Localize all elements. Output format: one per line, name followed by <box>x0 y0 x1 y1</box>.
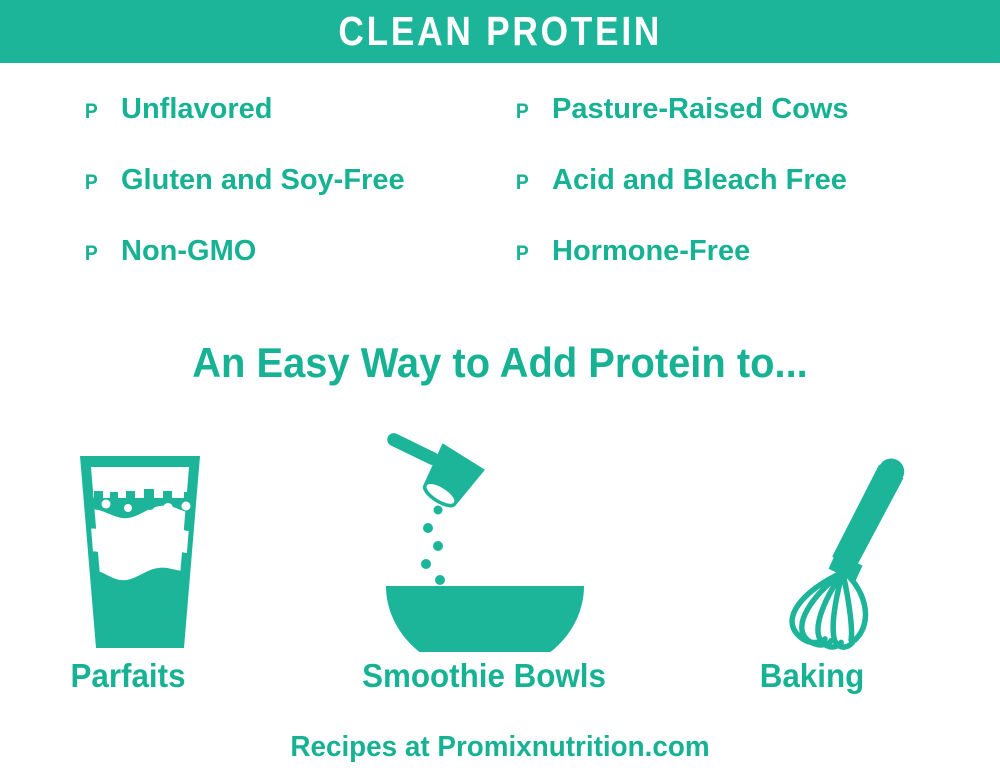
use-case-smoothie-bowls <box>345 412 625 652</box>
footer-recipes-link[interactable]: Recipes at Promixnutrition.com <box>20 733 980 762</box>
feature-label: Pasture-Raised Cows <box>552 95 849 124</box>
feature-column-right: P Pasture-Raised Cows P Acid and Bleach … <box>515 95 849 308</box>
feature-item-unflavored: P Unflavored <box>84 95 405 166</box>
promix-p-mark-icon: P <box>516 172 535 193</box>
parfait-glass-icon <box>72 452 208 652</box>
promix-p-mark-icon: P <box>85 101 104 122</box>
feature-label: Gluten and Soy-Free <box>121 166 405 195</box>
feature-item-acid-and-bleach-free: P Acid and Bleach Free <box>515 166 849 237</box>
feature-label: Hormone-Free <box>552 237 750 266</box>
feature-column-left: P Unflavored P Gluten and Soy-Free P Non… <box>84 95 405 308</box>
page-title: CLEAN PROTEIN <box>338 11 662 52</box>
whisk-icon <box>770 452 930 652</box>
caption-smoothie-bowls: Smoothie Bowls <box>351 658 617 694</box>
section-headline: An Easy Way to Add Protein to... <box>25 342 975 384</box>
use-case-captions: Parfaits Smoothie Bowls Baking <box>0 658 1000 704</box>
use-case-icons <box>0 412 1000 652</box>
bowl-with-scoop-icon <box>380 424 590 652</box>
feature-label: Acid and Bleach Free <box>552 166 847 195</box>
feature-item-gluten-and-soy-free: P Gluten and Soy-Free <box>84 166 405 237</box>
caption-baking: Baking <box>679 658 945 694</box>
feature-item-non-gmo: P Non-GMO <box>84 237 405 308</box>
infographic-page: CLEAN PROTEIN P Unflavored P Gluten and … <box>0 0 1000 772</box>
promix-p-mark-icon: P <box>516 101 535 122</box>
promix-p-mark-icon: P <box>85 243 104 264</box>
feature-item-pasture-raised-cows: P Pasture-Raised Cows <box>515 95 849 166</box>
feature-label: Unflavored <box>121 95 272 124</box>
use-case-baking <box>710 412 990 652</box>
promix-p-mark-icon: P <box>516 243 535 264</box>
feature-item-hormone-free: P Hormone-Free <box>515 237 849 308</box>
caption-parfaits: Parfaits <box>0 658 261 694</box>
promix-p-mark-icon: P <box>85 172 104 193</box>
use-case-parfaits <box>0 412 280 652</box>
header-band: CLEAN PROTEIN <box>0 0 1000 63</box>
feature-label: Non-GMO <box>121 237 256 266</box>
feature-list: P Unflavored P Gluten and Soy-Free P Non… <box>0 95 1000 310</box>
